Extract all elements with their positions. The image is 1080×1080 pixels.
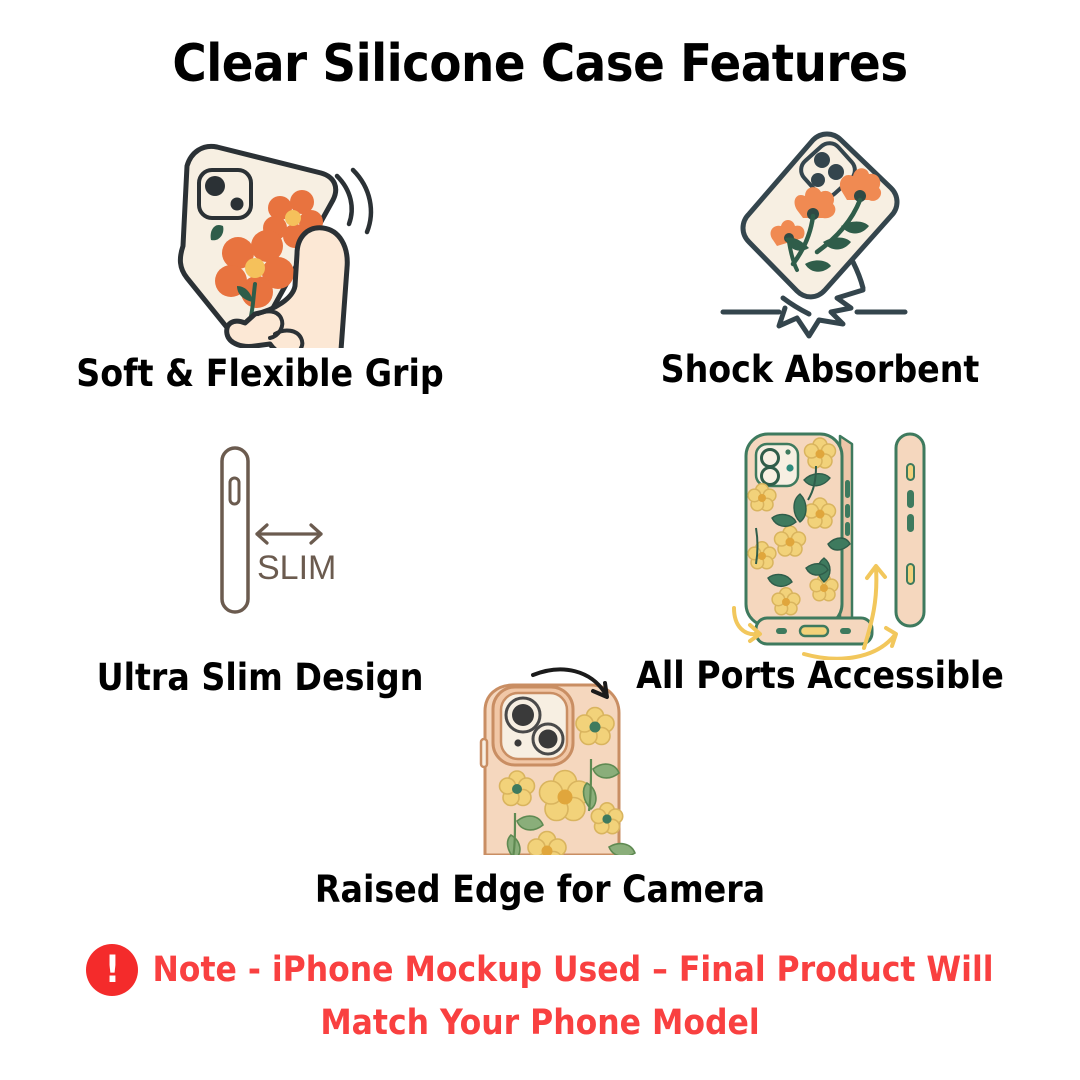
note-text-line1: Note - iPhone Mockup Used – Final Produc… [152,950,993,990]
camera-module-raised-bump [493,687,573,765]
all-ports-accessible-illustration [712,422,940,660]
exclamation-circle-icon: ! [86,944,138,996]
feature-label-shock-absorbent: Shock Absorbent [560,348,1080,391]
phone-side-edge-with-buttons [896,434,924,626]
phone-back-with-yellow-flowers [746,434,852,626]
dropping-phone-case [743,134,897,297]
width-double-arrow [257,525,321,543]
side-button-cutouts-on-body [845,480,850,536]
phone-bottom-edge-with-ports [756,618,872,644]
infographic-page: Clear Silicone Case Features [0,0,1080,1080]
ultra-slim-design-illustration: SLIM [195,440,365,620]
disclaimer-note: ! Note - iPhone Mockup Used – Final Prod… [0,944,1080,1043]
feature-label-raised-edge-camera: Raised Edge for Camera [280,868,800,911]
note-text-line2: Match Your Phone Model [320,1003,759,1043]
raised-edge-camera-illustration [455,665,655,855]
shock-absorbent-illustration [705,122,945,342]
feature-label-soft-flexible-grip: Soft & Flexible Grip [0,352,520,395]
feature-label-ultra-slim-design: Ultra Slim Design [0,656,520,699]
page-title: Clear Silicone Case Features [0,34,1080,94]
motion-lines [337,170,371,232]
phone-with-camera-bump [481,685,635,855]
phone-side-profile [222,448,248,612]
slim-annotation-text: SLIM [257,549,336,587]
note-line-1: ! Note - iPhone Mockup Used – Final Prod… [86,944,993,996]
exclamation-glyph: ! [105,951,120,988]
soft-flexible-grip-illustration [125,118,395,348]
